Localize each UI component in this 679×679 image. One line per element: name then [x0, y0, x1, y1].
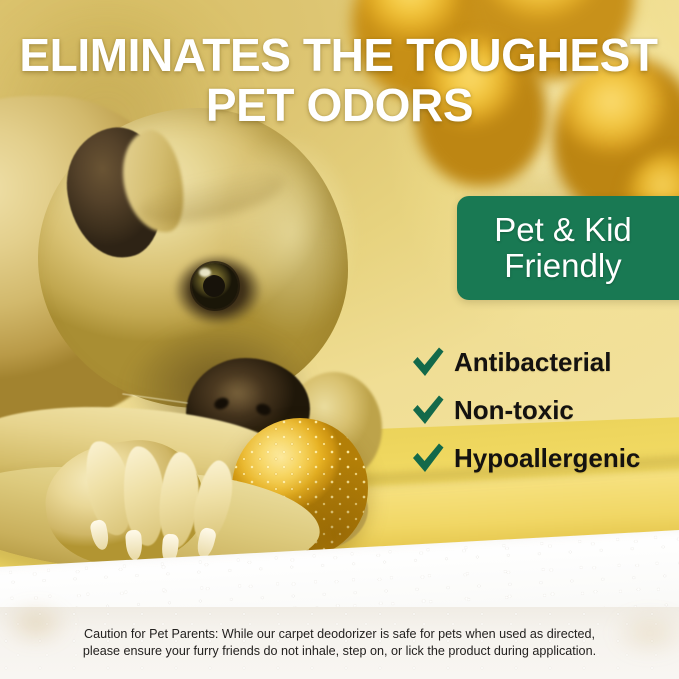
badge-line-1: Pet & Kid	[494, 212, 632, 248]
feature-item-hypoallergenic: Hypoallergenic	[408, 434, 679, 482]
pug-eye-pupil	[203, 275, 225, 297]
check-icon	[408, 438, 448, 478]
caution-caption: Caution for Pet Parents: While our carpe…	[0, 626, 679, 660]
feature-label: Antibacterial	[454, 348, 612, 376]
caption-line-2: please ensure your furry friends do not …	[22, 643, 657, 660]
feature-item-antibacterial: Antibacterial	[408, 338, 679, 386]
pug-eye-glint	[199, 268, 211, 277]
pet-kid-friendly-badge: Pet & Kid Friendly	[457, 196, 679, 300]
check-icon	[408, 390, 448, 430]
feature-label: Non-toxic	[454, 396, 574, 424]
ad-creative: ELIMINATES THE TOUGHEST PET ODORS Pet & …	[0, 0, 679, 679]
check-icon	[408, 342, 448, 382]
badge-line-2: Friendly	[494, 248, 632, 284]
headline-line-1: ELIMINATES THE TOUGHEST	[0, 30, 679, 80]
feature-item-non-toxic: Non-toxic	[408, 386, 679, 434]
headline: ELIMINATES THE TOUGHEST PET ODORS	[0, 30, 679, 130]
headline-line-2: PET ODORS	[0, 80, 679, 130]
feature-label: Hypoallergenic	[454, 444, 640, 472]
feature-list: Antibacterial Non-toxic Hypoallergenic	[408, 338, 679, 482]
badge-text: Pet & Kid Friendly	[494, 212, 650, 284]
caption-line-1: Caution for Pet Parents: While our carpe…	[22, 626, 657, 643]
